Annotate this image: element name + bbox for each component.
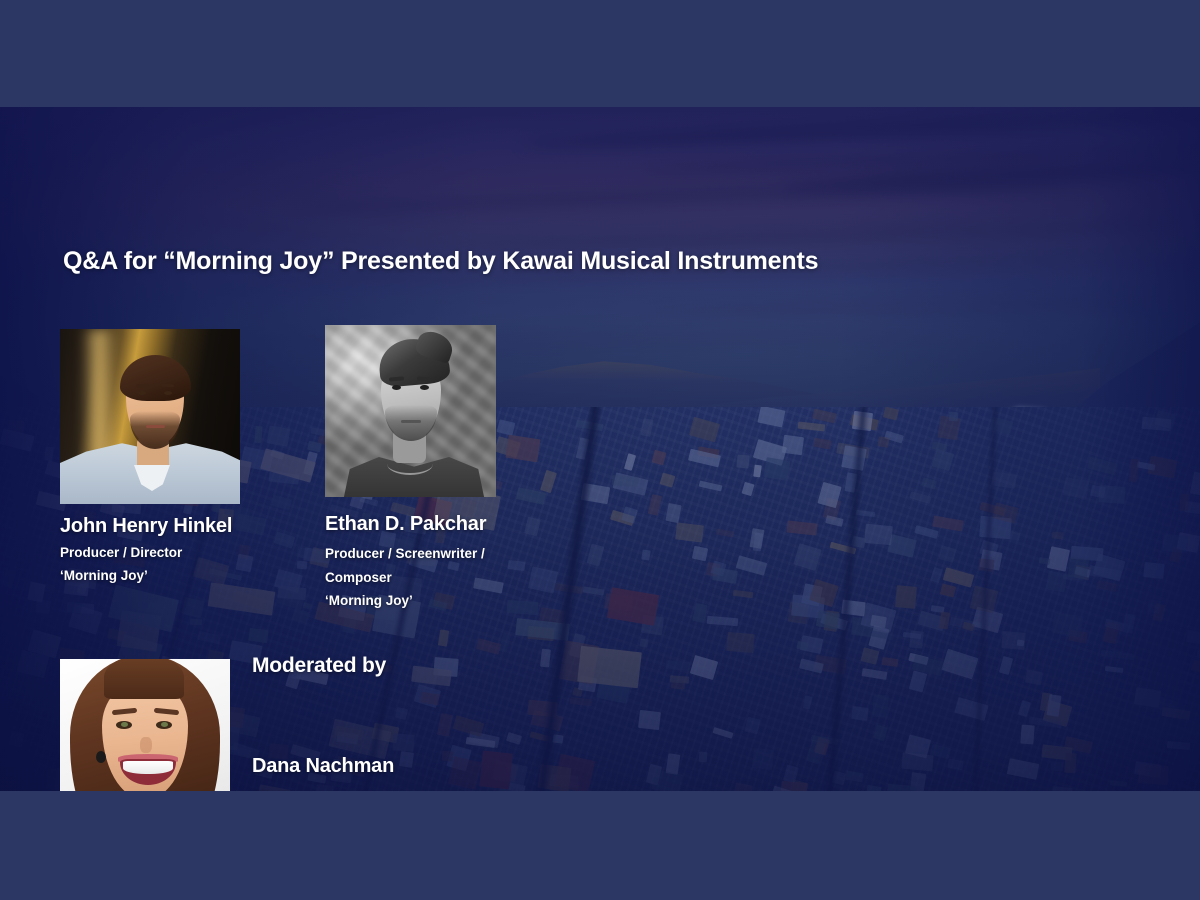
- hair-fringe: [104, 659, 184, 699]
- panelist-role-2c: ‘Morning Joy’: [325, 593, 413, 608]
- panelist-role-2b: Composer: [325, 570, 392, 585]
- panelist-role-2a: Producer / Screenwriter /: [325, 546, 485, 561]
- slide-stage: Q&A for “Morning Joy” Presented by Kawai…: [0, 0, 1200, 900]
- letterbox-bottom: [0, 791, 1200, 900]
- mouth: [401, 420, 421, 423]
- nose: [140, 737, 152, 753]
- moderated-by-label: Moderated by: [252, 654, 386, 678]
- eye: [392, 385, 401, 390]
- eye: [138, 391, 146, 395]
- iris: [161, 722, 168, 727]
- necklace: [387, 453, 433, 475]
- avatar-dana-nachman: [60, 659, 230, 791]
- moderator-name: Dana Nachman: [252, 755, 394, 778]
- panelist-role-1a: Producer / Director: [60, 545, 182, 560]
- slide-content: Q&A for “Morning Joy” Presented by Kawai…: [0, 107, 1200, 791]
- avatar-john-henry-hinkel: [60, 329, 240, 504]
- panelist-role-1b: ‘Morning Joy’: [60, 568, 148, 583]
- earring: [96, 751, 106, 763]
- avatar-ethan-d-pakchar: [325, 325, 496, 497]
- eye: [420, 385, 429, 390]
- page-title: Q&A for “Morning Joy” Presented by Kawai…: [63, 247, 818, 276]
- panelist-name-2: Ethan D. Pakchar: [325, 513, 486, 536]
- letterbox-top: [0, 0, 1200, 107]
- video-frame[interactable]: Q&A for “Morning Joy” Presented by Kawai…: [0, 107, 1200, 791]
- mouth: [146, 425, 165, 428]
- eye: [164, 391, 172, 395]
- iris: [121, 722, 128, 727]
- teeth: [123, 761, 173, 774]
- panelist-name-1: John Henry Hinkel: [60, 515, 232, 538]
